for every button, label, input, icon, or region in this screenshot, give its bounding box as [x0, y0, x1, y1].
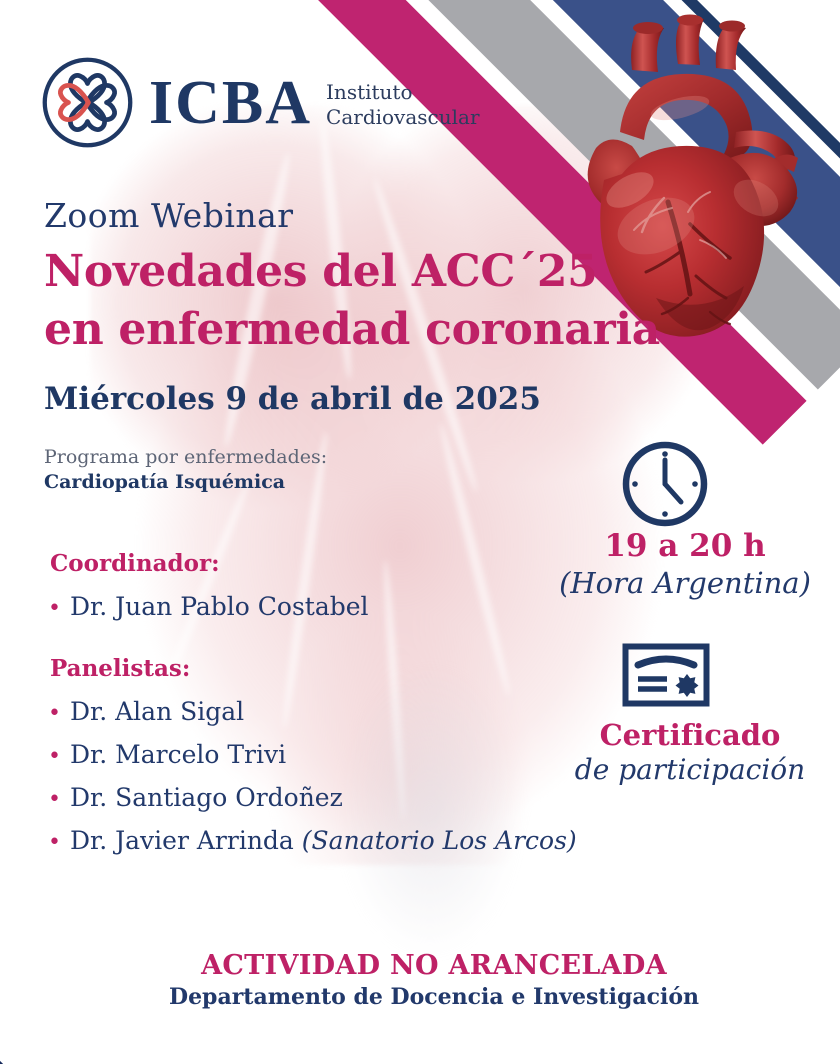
flyer-content: ICBA Instituto Cardiovascular Zoom Webin…: [0, 0, 840, 1064]
list-item: •Dr. Santiago Ordoñez: [48, 783, 343, 812]
bullet-icon: •: [48, 787, 61, 812]
brand-subtitle-line1: Instituto: [326, 80, 412, 104]
event-time: 19 a 20 h: [560, 528, 810, 564]
brand-logo: ICBA Instituto Cardiovascular: [40, 55, 480, 150]
brand-name: ICBA: [149, 72, 312, 134]
certificate-title: Certificado: [550, 718, 830, 752]
clock-icon: [619, 438, 711, 530]
coordinator-name: Dr. Juan Pablo Costabel: [70, 592, 369, 621]
footer-department: Departamento de Docencia e Investigación: [0, 984, 840, 1010]
webinar-kicker: Zoom Webinar: [44, 196, 294, 235]
coordinator-heading: Coordinador:: [50, 550, 220, 577]
brand-wordmark: ICBA Instituto Cardiovascular: [149, 72, 480, 134]
list-item: •Dr. Javier Arrinda (Sanatorio Los Arcos…: [48, 826, 577, 855]
brand-subtitle-line2: Cardiovascular: [326, 105, 479, 129]
program-value: Cardiopatía Isquémica: [44, 471, 285, 493]
list-item: •Dr. Alan Sigal: [48, 697, 244, 726]
event-timezone: (Hora Argentina): [540, 566, 830, 600]
panelist-name: Dr. Santiago Ordoñez: [70, 783, 343, 812]
bullet-icon: •: [48, 830, 61, 855]
bullet-icon: •: [48, 596, 61, 621]
footer-notice: ACTIVIDAD NO ARANCELADA: [0, 950, 840, 981]
panelists-heading: Panelistas:: [50, 655, 190, 682]
page-title-line1: Novedades del ACC´25: [44, 243, 660, 301]
brand-subtitle: Instituto Cardiovascular: [326, 76, 479, 129]
icba-clover-heart-logo-icon: [40, 55, 135, 150]
bullet-icon: •: [48, 744, 61, 769]
certificate-icon: [622, 643, 710, 707]
panelist-affiliation: (Sanatorio Los Arcos): [302, 826, 577, 855]
panelist-name: Dr. Marcelo Trivi: [70, 740, 286, 769]
panelist-name: Dr. Javier Arrinda: [70, 826, 294, 855]
webinar-flyer: ICBA Instituto Cardiovascular Zoom Webin…: [0, 0, 840, 1064]
page-title-line2: en enfermedad coronaria: [44, 301, 660, 359]
program-label: Programa por enfermedades:: [44, 446, 327, 468]
list-item: •Dr. Marcelo Trivi: [48, 740, 286, 769]
page-title: Novedades del ACC´25 en enfermedad coron…: [44, 243, 660, 359]
certificate-subtitle: de participación: [540, 753, 840, 786]
event-date: Miércoles 9 de abril de 2025: [44, 381, 541, 417]
bullet-icon: •: [48, 701, 61, 726]
list-item: •Dr. Juan Pablo Costabel: [48, 592, 369, 621]
panelist-name: Dr. Alan Sigal: [70, 697, 244, 726]
